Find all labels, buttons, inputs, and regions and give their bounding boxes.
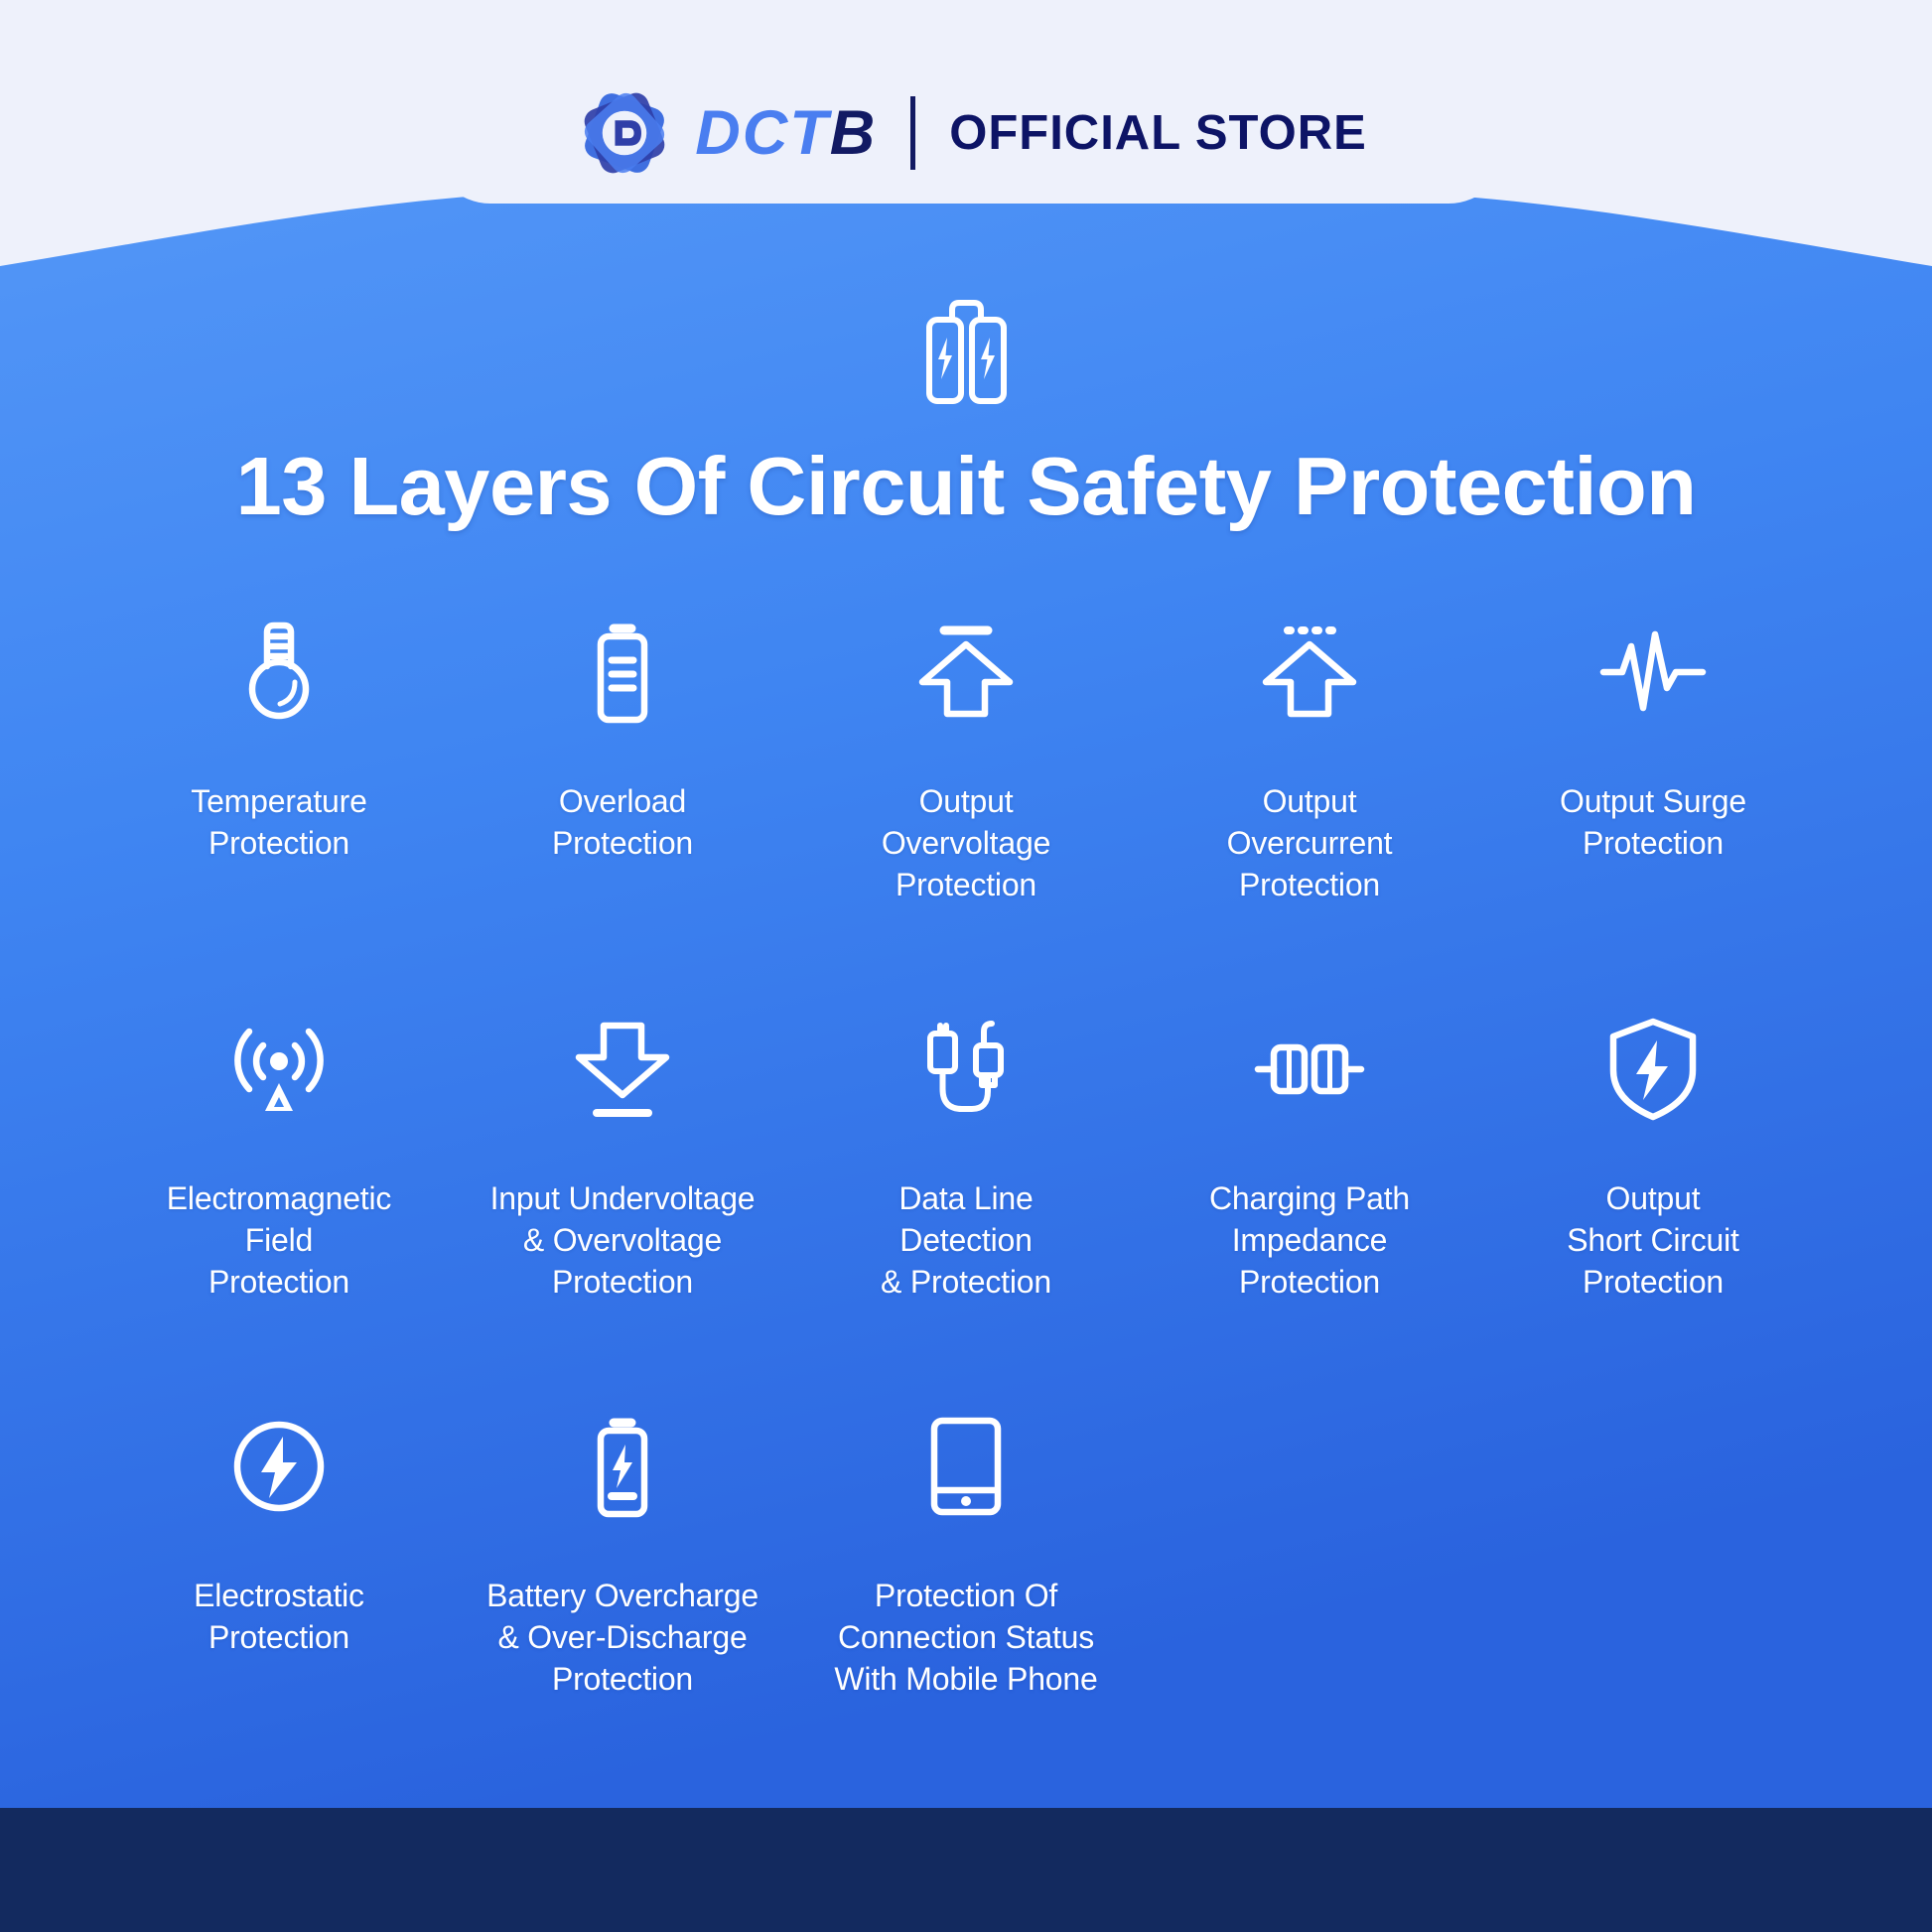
feature-label: Output Short Circuit Protection [1567,1177,1738,1304]
bottom-bar [0,1808,1932,1932]
surge-waveform-icon [1594,614,1712,731]
feature-temperature-protection[interactable]: Temperature Protection [107,596,451,993]
feature-charging-path-impedance-protection[interactable]: Charging Path Impedance Protection [1138,993,1481,1390]
feature-label: Battery Overcharge & Over-Discharge Prot… [486,1575,759,1701]
feature-label: Charging Path Impedance Protection [1209,1177,1410,1304]
feature-data-line-detection-protection[interactable]: Data Line Detection & Protection [794,993,1138,1390]
thermometer-bulb-icon [220,614,338,731]
dctb-logo-icon [572,80,677,186]
feature-label: Output Overvoltage Protection [882,780,1050,906]
feature-label: Output Overcurrent Protection [1227,780,1393,906]
feature-electromagnetic-field-protection[interactable]: Electromagnetic Field Protection [107,993,451,1390]
feature-empty-slot [1138,1390,1481,1787]
official-store-label: OFFICIAL STORE [949,105,1367,161]
arrow-up-solid-bar-icon [907,614,1025,731]
brand-lockup[interactable]: DCTB [572,80,877,186]
dual-battery-charging-icon [0,298,1932,407]
battery-overload-icon [564,614,681,731]
features-grid: Temperature Protection Overload Protecti… [107,596,1825,1787]
feature-electrostatic-protection[interactable]: Electrostatic Protection [107,1390,451,1787]
feature-label: Electrostatic Protection [194,1575,364,1658]
header-divider [910,96,915,170]
brand-wordmark: DCTB [695,97,877,169]
shield-bolt-icon [1594,1011,1712,1128]
page-title: 13 Layers Of Circuit Safety Protection [0,443,1932,529]
feature-input-undervoltage-overvoltage-protection[interactable]: Input Undervoltage & Overvoltage Protect… [451,993,794,1390]
feature-label: Data Line Detection & Protection [881,1177,1051,1304]
feature-label: Overload Protection [552,780,693,864]
battery-bolt-icon [564,1408,681,1525]
brand-word-part1: DCT [695,97,829,169]
features-row-2: Electromagnetic Field Protection Input U… [107,993,1825,1390]
usb-cable-icon [907,1011,1025,1128]
feature-output-surge-protection[interactable]: Output Surge Protection [1481,596,1825,993]
feature-output-short-circuit-protection[interactable]: Output Short Circuit Protection [1481,993,1825,1390]
feature-label: Electromagnetic Field Protection [167,1177,391,1304]
brand-word-part2: B [830,97,878,169]
store-header-card: DCTB OFFICIAL STORE [431,0,1508,204]
feature-empty-slot [1481,1390,1825,1787]
feature-label: Output Surge Protection [1560,780,1746,864]
page-root: DCTB OFFICIAL STORE 13 Layers Of Circuit… [0,0,1932,1932]
circle-bolt-icon [220,1408,338,1525]
features-row-1: Temperature Protection Overload Protecti… [107,596,1825,993]
feature-label: Input Undervoltage & Overvoltage Protect… [490,1177,756,1304]
radio-waves-antenna-icon [220,1011,338,1128]
feature-output-overvoltage-protection[interactable]: Output Overvoltage Protection [794,596,1138,993]
hero-section: 13 Layers Of Circuit Safety Protection [0,298,1932,529]
mobile-phone-icon [907,1408,1025,1525]
feature-output-overcurrent-protection[interactable]: Output Overcurrent Protection [1138,596,1481,993]
arrow-up-dotted-bar-icon [1251,614,1368,731]
resistor-icon [1251,1011,1368,1128]
feature-label: Protection Of Connection Status With Mob… [834,1575,1097,1701]
features-row-3: Electrostatic Protection Battery Overcha… [107,1390,1825,1787]
feature-label: Temperature Protection [191,780,366,864]
feature-connection-status-mobile-phone-protection[interactable]: Protection Of Connection Status With Mob… [794,1390,1138,1787]
feature-battery-overcharge-over-discharge-protection[interactable]: Battery Overcharge & Over-Discharge Prot… [451,1390,794,1787]
arrow-down-underline-icon [564,1011,681,1128]
feature-overload-protection[interactable]: Overload Protection [451,596,794,993]
